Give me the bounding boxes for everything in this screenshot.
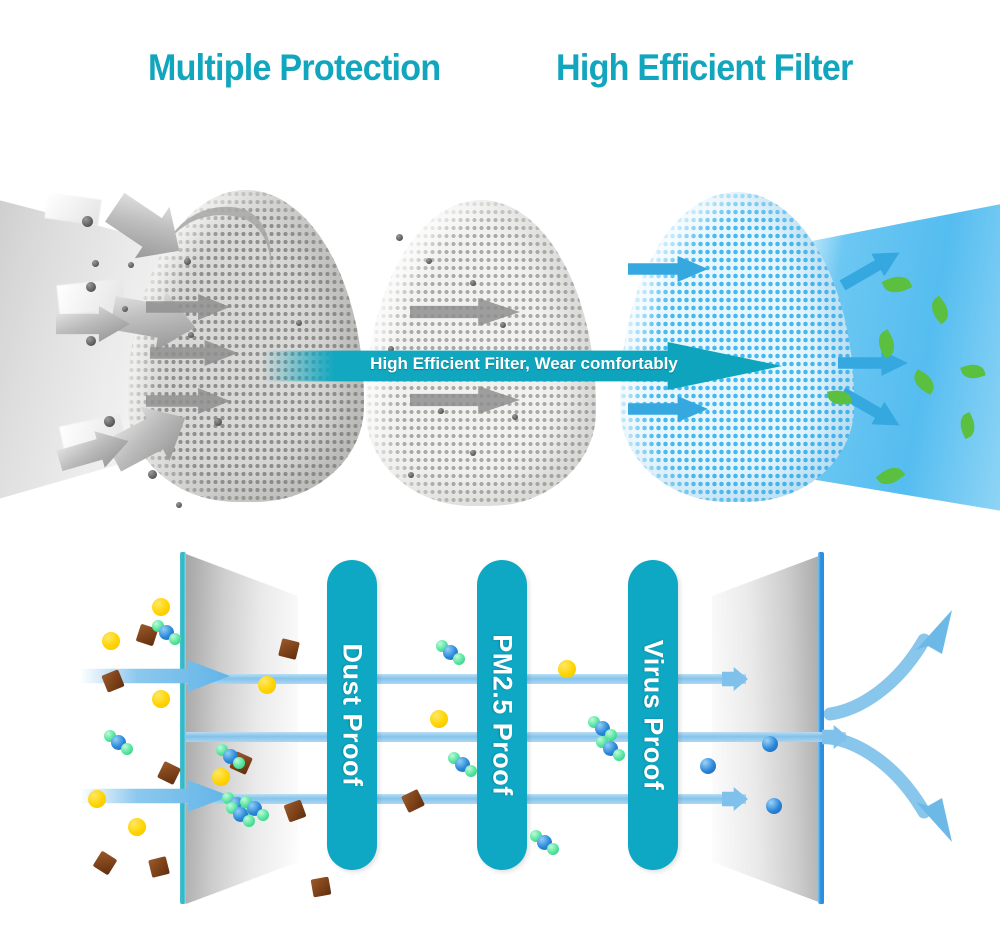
pm25-particle <box>157 761 181 785</box>
pill-label: PM2.5 Proof <box>487 634 518 796</box>
virus-lobe <box>233 757 245 769</box>
virus-lobe <box>257 809 269 821</box>
passed-particle <box>762 736 778 752</box>
dust-speck <box>408 472 414 478</box>
virus-particle <box>216 744 246 770</box>
virus-lobe <box>547 843 559 855</box>
dust-particle <box>258 676 276 694</box>
banner-arrow-label: High Efficient Filter, Wear comfortably <box>324 354 724 374</box>
pm25-particle <box>311 877 332 898</box>
pm25-particle <box>93 851 118 876</box>
virus-lobe <box>453 653 465 665</box>
pill-pm25-proof: PM2.5 Proof <box>477 560 527 870</box>
dust-particle <box>212 768 230 786</box>
dust-speck <box>470 280 476 286</box>
headline-multiple-protection: Multiple Protection <box>148 47 440 89</box>
virus-particle <box>596 736 626 762</box>
virus-particle <box>530 830 560 856</box>
dust-particle <box>128 818 146 836</box>
exit-arrow-up <box>824 592 964 722</box>
barrier-panel-right <box>712 554 824 904</box>
virus-particle <box>226 802 256 828</box>
dust-particle <box>430 710 448 728</box>
dust-speck <box>512 414 518 420</box>
virus-lobe <box>243 815 255 827</box>
dust-speck <box>82 216 93 227</box>
virus-particle <box>152 620 182 646</box>
passed-particle <box>700 758 716 774</box>
banner-arrow: High Efficient Filter, Wear comfortably <box>262 342 782 390</box>
pm25-particle <box>401 789 425 813</box>
dust-particle <box>558 660 576 678</box>
dust-speck <box>188 332 194 338</box>
dust-speck <box>470 450 476 456</box>
virus-lobe <box>465 765 477 777</box>
product-infographic: Multiple Protection High Efficient Filte… <box>0 0 1000 950</box>
dust-speck <box>500 322 506 328</box>
dust-speck <box>128 262 134 268</box>
dust-speck <box>86 282 96 292</box>
passed-particle <box>766 798 782 814</box>
dust-speck <box>296 320 302 326</box>
dust-speck <box>104 416 115 427</box>
dust-speck <box>426 258 432 264</box>
virus-lobe <box>121 743 133 755</box>
headline-row: Multiple Protection High Efficient Filte… <box>0 47 1000 99</box>
dust-speck <box>122 306 128 312</box>
dust-particle <box>88 790 106 808</box>
dust-speck <box>86 336 96 346</box>
dust-speck <box>148 470 157 479</box>
dust-particle <box>152 598 170 616</box>
pill-virus-proof: Virus Proof <box>628 560 678 870</box>
dust-speck <box>176 502 182 508</box>
dust-particle <box>102 632 120 650</box>
headline-high-efficient-filter: High Efficient Filter <box>556 47 853 89</box>
dust-speck <box>214 418 222 426</box>
filter-layers-diagram: High Efficient Filter, Wear comfortably <box>0 150 1000 550</box>
exit-arrow-down <box>824 730 964 860</box>
dust-speck <box>92 260 99 267</box>
dust-particle <box>152 690 170 708</box>
dust-speck <box>184 258 191 265</box>
barrier-panel-left <box>186 554 298 904</box>
pill-dust-proof: Dust Proof <box>327 560 377 870</box>
pm25-particle <box>148 856 170 878</box>
virus-particle <box>436 640 466 666</box>
dust-speck <box>438 408 444 414</box>
proof-barrier-diagram: Dust Proof PM2.5 Proof Virus Proof <box>0 540 1000 940</box>
virus-lobe <box>169 633 181 645</box>
barrier-line-left <box>180 552 186 904</box>
virus-lobe <box>613 749 625 761</box>
dust-speck <box>396 234 403 241</box>
virus-particle <box>448 752 478 778</box>
pill-label: Virus Proof <box>638 640 669 791</box>
virus-particle <box>104 730 134 756</box>
pill-label: Dust Proof <box>337 644 368 787</box>
